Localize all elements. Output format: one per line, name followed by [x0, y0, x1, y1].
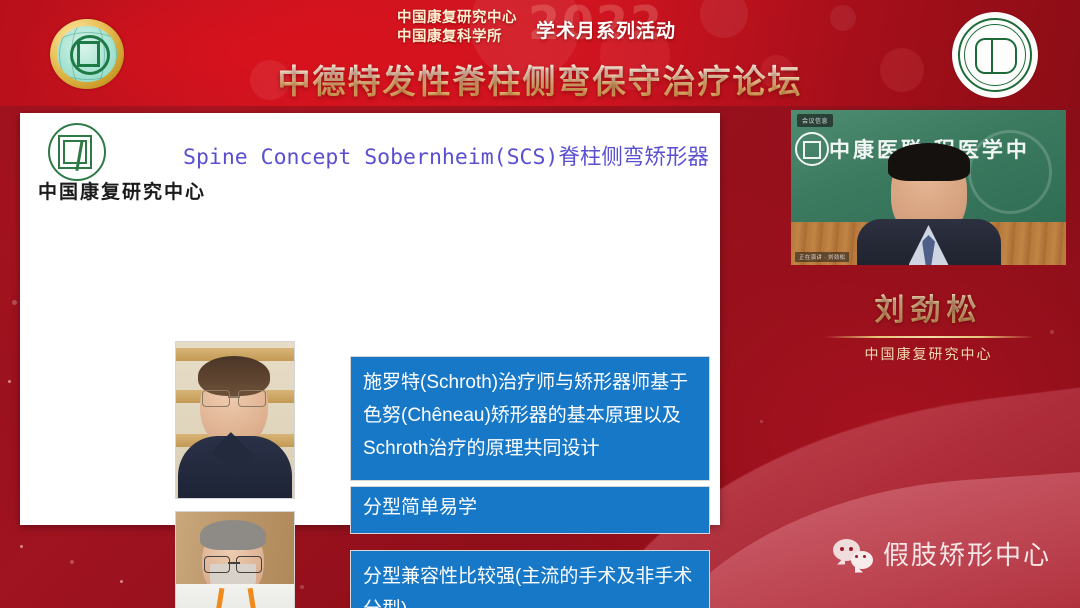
speaker-name: 刘劲松 [791, 285, 1066, 329]
series-label: 学术月系列活动 [536, 16, 676, 43]
speaker-hair [888, 143, 970, 181]
wechat-account-name: 假肢矫形中心 [883, 535, 1051, 572]
slide-title-en: Spine Concept Sobernheim(SCS) [183, 145, 558, 170]
background-speck [8, 380, 11, 383]
slide-photo-therapist [175, 341, 295, 499]
background-speck [300, 585, 304, 589]
speaker-organization: 中国康复研究中心 [791, 344, 1066, 364]
slide-title-cn: 脊柱侧弯矫形器 [558, 145, 709, 169]
event-banner: 2022 中国康复研究中心 中国康复科学所 学术月系列活动 中德特发性脊柱侧弯保… [0, 0, 1080, 106]
crrc-monogram-icon [48, 123, 106, 181]
divider [824, 336, 1034, 338]
video-bottom-caption: 正在演讲 · 刘劲松 [795, 252, 849, 262]
video-top-badge[interactable]: 会议信息 [797, 114, 833, 127]
organizer-names: 中国康复研究中心 中国康复科学所 [397, 9, 517, 47]
background-speck [120, 580, 123, 583]
organizer-line-1: 中国康复研究中心 [397, 9, 517, 28]
wechat-account-footer: 假肢矫形中心 [833, 535, 1051, 572]
organizer-line-2: 中国康复科学所 [397, 28, 517, 47]
broadcast-screen: 2022 中国康复研究中心 中国康复科学所 学术月系列活动 中德特发性脊柱侧弯保… [0, 0, 1080, 608]
glasses-icon [204, 556, 262, 571]
background-speck [20, 545, 23, 548]
slide-title: Spine Concept Sobernheim(SCS)脊柱侧弯矫形器 [183, 140, 709, 171]
background-speck [760, 420, 763, 423]
board-logo-icon [795, 132, 829, 166]
slide-photo-orthotist [175, 511, 295, 608]
slide-bullet-box-3: 分型兼容性比较强(主流的手术及非手术分型) [350, 550, 710, 608]
presentation-slide: 中国康复研究中心 Spine Concept Sobernheim(SCS)脊柱… [20, 113, 720, 525]
slide-logo-label: 中国康复研究中心 [38, 177, 206, 204]
background-speck [70, 560, 74, 564]
forum-title: 中德特发性脊柱侧弯保守治疗论坛 [0, 55, 1080, 103]
glasses-icon [202, 390, 266, 405]
speaker-video-feed[interactable]: 中康医联 程医学中 会议信息 正在演讲 · 刘劲松 [791, 110, 1066, 265]
slide-bullet-box-2: 分型简单易学 [350, 486, 710, 534]
background-speck [12, 300, 17, 305]
wechat-icon [833, 539, 873, 569]
speaker-name-plate: 刘劲松 中国康复研究中心 [791, 285, 1066, 365]
portrait-torso [176, 584, 294, 608]
slide-bullet-box-1: 施罗特(Schroth)治疗师与矫形器师基于色努(Chêneau)矫形器的基本原… [350, 356, 710, 481]
portrait-hair [200, 520, 266, 550]
speaker-figure [859, 147, 999, 265]
